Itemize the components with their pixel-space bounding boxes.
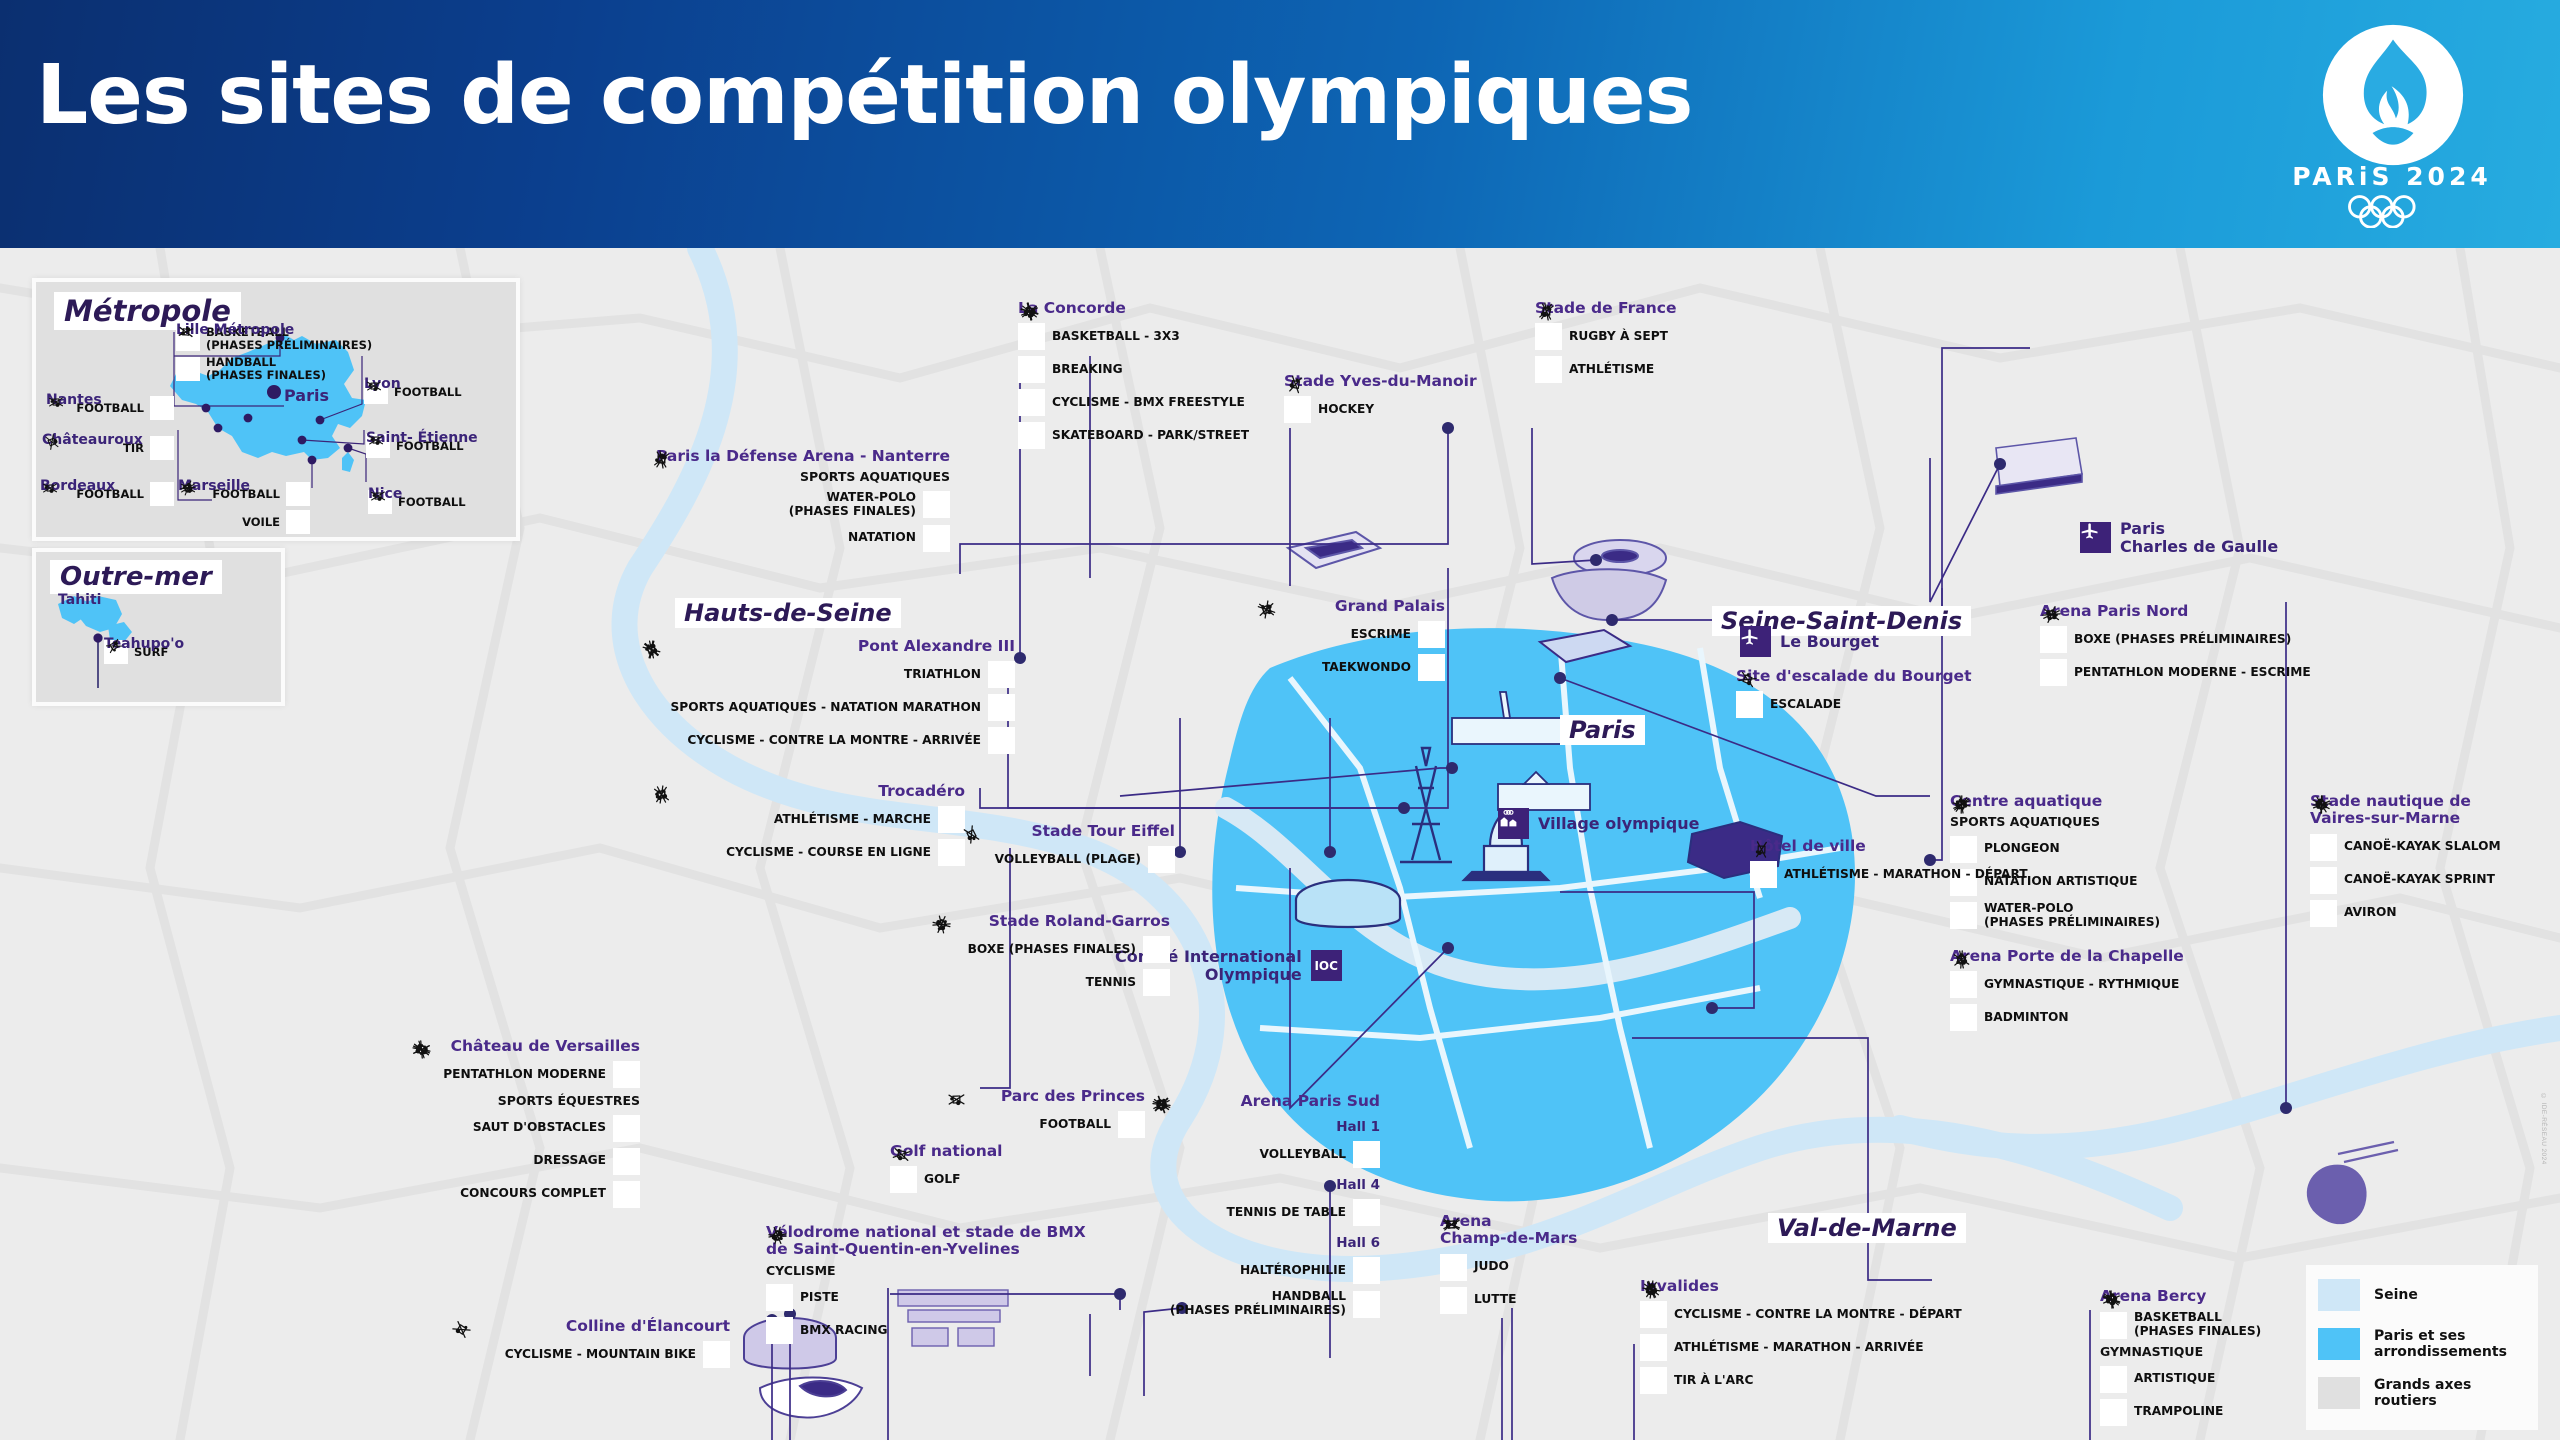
olympic-flame-marianne-icon: [2320, 22, 2466, 168]
sport-label: ESCALADE: [1770, 698, 1841, 712]
venue-invalides[interactable]: InvalidesCYCLISME - CONTRE LA MONTRE - D…: [1640, 1278, 2020, 1394]
bourget-venue-icon: [1552, 569, 1666, 620]
athletics-pictogram: [1535, 300, 1558, 323]
venue-name: Stade Tour Eiffel: [960, 823, 1175, 840]
sport-label: HOCKEY: [1318, 403, 1374, 417]
archery-pictogram: [1640, 1367, 1667, 1394]
region-label-val-de-marne: Val-de-Marne: [1768, 1213, 1966, 1243]
sport-row[interactable]: WATER-POLO (PHASES FINALES): [650, 491, 950, 519]
equestrian-dressage-pictogram: [613, 1148, 640, 1175]
fencing-pictogram: [1418, 621, 1445, 648]
sailing-pictogram: [178, 478, 198, 498]
credit-text: © IDE-RÉSEAU 2024: [2540, 1093, 2547, 1165]
sport-row[interactable]: PENTATHLON MODERNE: [410, 1061, 640, 1088]
rowing-pictogram: [2310, 793, 2333, 816]
venue-site-escalade-du-bourget[interactable]: Site d'escalade du BourgetESCALADE: [1736, 668, 2036, 718]
poi-label: Village olympique: [1538, 815, 1699, 833]
venue-name: Arena Champ-de-Mars: [1440, 1213, 1630, 1248]
map-canvas: Hauts-de-Seine Seine-Saint-Denis Paris V…: [0, 248, 2560, 1440]
venue-subhead: SPORTS ÉQUESTRES: [410, 1094, 640, 1108]
sport-row[interactable]: SKATEBOARD - PARK/STREET: [1018, 422, 1308, 449]
venue-velodrome-national-bmx[interactable]: Vélodrome national et stade de BMX de Sa…: [766, 1224, 1096, 1344]
trampoline-pictogram: [2100, 1399, 2127, 1426]
sailing-pictogram: [286, 510, 310, 534]
sport-row[interactable]: PISTE: [766, 1284, 1096, 1311]
sport-label: PENTATHLON MODERNE: [443, 1068, 606, 1082]
venue-name: Centre aquatique: [1950, 793, 2280, 810]
venue-name: Vélodrome national et stade de BMX de Sa…: [766, 1224, 1096, 1259]
region-label-paris: Paris: [1560, 715, 1645, 745]
sport-row[interactable]: ESCRIME: [1255, 621, 1445, 648]
inset-map-metropole[interactable]: Métropole: [32, 278, 520, 541]
inset-sport-row[interactable]: FOOTBALL: [46, 396, 174, 420]
sport-row[interactable]: CYCLISME - MOUNTAIN BIKE: [450, 1341, 730, 1368]
venue-colline-delancourt[interactable]: Colline d'ÉlancourtCYCLISME - MOUNTAIN B…: [450, 1318, 730, 1368]
sport-label: BMX RACING: [800, 1324, 888, 1338]
poi-label: Le Bourget: [1780, 633, 1879, 651]
poi-paris-charles-de-gaulle[interactable]: Paris Charles de Gaulle: [2080, 520, 2278, 555]
golf-pictogram: [890, 1143, 913, 1166]
badminton-pictogram: [1950, 948, 1973, 971]
sport-row[interactable]: FOOTBALL: [945, 1111, 1145, 1138]
legend-item-paris: Paris et ses arrondissements: [2318, 1328, 2526, 1360]
hockey-pictogram: [1284, 396, 1311, 423]
inset-sport-label: FOOTBALL: [398, 496, 466, 509]
handball-pictogram: [1150, 1093, 1173, 1116]
sport-label: HANDBALL (PHASES PRÉLIMINAIRES): [1170, 1290, 1346, 1318]
venue-name: Golf national: [890, 1143, 1070, 1160]
inset-city-paris: Paris: [284, 386, 329, 405]
poi-le-bourget[interactable]: Le Bourget: [1740, 626, 1879, 657]
football-pictogram: [150, 396, 174, 420]
sport-climbing-pictogram: [1736, 691, 1763, 718]
sport-row[interactable]: GOLF: [890, 1166, 1070, 1193]
sport-row[interactable]: ATHLÉTISME - MARATHON - ARRIVÉE: [1640, 1334, 2020, 1361]
sport-label: CYCLISME - BMX FREESTYLE: [1052, 396, 1245, 410]
sport-row[interactable]: VOLLEYBALL (PLAGE): [960, 846, 1175, 873]
wrestling-pictogram: [1440, 1287, 1467, 1314]
cycling-road-pictogram: [640, 638, 663, 661]
football-pictogram: [40, 478, 60, 498]
sport-row[interactable]: BOXE (PHASES FINALES): [930, 936, 1170, 963]
football-pictogram: [366, 430, 386, 450]
venue-chateau-de-versailles[interactable]: Château de VersaillesPENTATHLON MODERNES…: [410, 1038, 640, 1208]
swimming-pictogram: [650, 448, 673, 471]
sport-row[interactable]: AVIRON: [2310, 900, 2560, 927]
taekwondo-pictogram: [1418, 654, 1445, 681]
sport-label: NATATION: [848, 531, 916, 545]
inset-site-teahupoo[interactable]: Teahupo'oSURF: [104, 636, 264, 664]
sport-label: ARTISTIQUE: [2134, 1372, 2215, 1386]
sport-label: GOLF: [924, 1173, 960, 1187]
paris-2024-logo: PARiS 2024: [2292, 22, 2492, 227]
sport-row[interactable]: PENTATHLON MODERNE - ESCRIME: [2040, 659, 2370, 686]
venue-arena-paris-nord[interactable]: Arena Paris NordBOXE (PHASES PRÉLIMINAIR…: [2040, 603, 2370, 686]
venue-subhead: SPORTS AQUATIQUES: [1950, 815, 2280, 829]
sport-row[interactable]: SPORTS AQUATIQUES - NATATION MARATHON: [640, 694, 1015, 721]
yves-du-manoir-icon: [1288, 532, 1380, 568]
artistic-gymnastics-pictogram: [2100, 1366, 2127, 1393]
tennis-pictogram: [1143, 969, 1170, 996]
sport-label: DRESSAGE: [533, 1154, 606, 1168]
bmx-racing-pictogram: [766, 1317, 793, 1344]
sport-label: TENNIS DE TABLE: [1227, 1206, 1346, 1220]
venue-name: Invalides: [1640, 1278, 2020, 1295]
sport-row[interactable]: WATER-POLO (PHASES PRÉLIMINAIRES): [1950, 902, 2280, 930]
legend-swatch-seine: [2318, 1279, 2360, 1311]
venue-stade-tour-eiffel[interactable]: Stade Tour EiffelVOLLEYBALL (PLAGE): [960, 823, 1175, 873]
venue-name: Pont Alexandre III: [640, 638, 1015, 655]
page-header: Les sites de compétition olympiques PARi…: [0, 0, 2560, 248]
hockey-pictogram: [1284, 373, 1307, 396]
waterpolo-pictogram: [1950, 793, 1973, 816]
sport-row[interactable]: CYCLISME - BMX FREESTYLE: [1018, 389, 1308, 416]
venue-name: Parc des Princes: [945, 1088, 1145, 1105]
cycling-track-pictogram: [766, 1284, 793, 1311]
sport-label: CYCLISME - COURSE EN LIGNE: [726, 846, 931, 860]
sport-row[interactable]: TENNIS: [930, 969, 1170, 996]
airport-icon: [2080, 522, 2111, 553]
rowing-pictogram: [2310, 900, 2337, 927]
sport-label: BOXE (PHASES FINALES): [968, 943, 1136, 957]
sport-label: AVIRON: [2344, 906, 2397, 920]
sport-label: CYCLISME - CONTRE LA MONTRE - ARRIVÉE: [687, 734, 981, 748]
sport-row[interactable]: CANOË-KAYAK SLALOM: [2310, 834, 2560, 861]
sport-row[interactable]: BMX RACING: [766, 1317, 1096, 1344]
sport-label: CANOË-KAYAK SPRINT: [2344, 873, 2495, 887]
venue-name: Château de Versailles: [410, 1038, 640, 1055]
cycling-road-pictogram: [988, 727, 1015, 754]
sport-row[interactable]: ATHLÉTISME - MARATHON - DÉPART: [1750, 861, 2050, 888]
venue-golf-national[interactable]: Golf nationalGOLF: [890, 1143, 1070, 1193]
sport-label: PENTATHLON MODERNE - ESCRIME: [2074, 666, 2311, 680]
sport-label: WATER-POLO (PHASES FINALES): [789, 491, 916, 519]
legend-item-seine: Seine: [2318, 1279, 2526, 1311]
venue-parc-des-princes[interactable]: Parc des PrincesFOOTBALL: [945, 1088, 1145, 1138]
legend-swatch-roads: [2318, 1377, 2360, 1409]
football-pictogram: [150, 482, 174, 506]
sport-row[interactable]: ATHLÉTISME: [1535, 356, 1785, 383]
inset-city-marseille[interactable]: MarseilleFOOTBALLVOILE: [178, 478, 310, 534]
venue-stade-de-france[interactable]: Stade de FranceRUGBY À SEPTATHLÉTISME: [1535, 300, 1785, 383]
sport-row[interactable]: DRESSAGE: [410, 1148, 640, 1175]
trampoline-pictogram: [2100, 1288, 2123, 1311]
sport-row[interactable]: SAUT D'OBSTACLES: [410, 1115, 640, 1142]
roland-garros-icon: [1296, 880, 1400, 927]
sport-label: ATHLÉTISME - MARCHE: [774, 813, 931, 827]
sport-row[interactable]: ESCALADE: [1736, 691, 2036, 718]
sport-label: PISTE: [800, 1291, 839, 1305]
olympic-village-icon: [1498, 808, 1529, 839]
vaires-nautical-icon: [2308, 1142, 2398, 1223]
handball-pictogram: [176, 357, 200, 381]
inset-city-nantes[interactable]: NantesFOOTBALL: [46, 392, 174, 420]
legend-swatch-paris: [2318, 1328, 2360, 1360]
sport-label: SPORTS AQUATIQUES - NATATION MARATHON: [671, 701, 981, 715]
venue-paris-la-defense-arena[interactable]: Paris la Défense Arena - NanterreSPORTS …: [650, 448, 950, 552]
bmx-racing-pictogram: [766, 1224, 789, 1247]
sport-label: ESCRIME: [1351, 628, 1411, 642]
sport-row[interactable]: CONCOURS COMPLET: [410, 1181, 640, 1208]
sport-label: SKATEBOARD - PARK/STREET: [1052, 429, 1249, 443]
taekwondo-pictogram: [1255, 598, 1278, 621]
archery-pictogram: [1640, 1278, 1663, 1301]
sport-row[interactable]: CANOË-KAYAK SPRINT: [2310, 867, 2560, 894]
athletics-pictogram: [1535, 356, 1562, 383]
swimming-pictogram: [923, 525, 950, 552]
venue-name: Grand Palais: [1255, 598, 1445, 615]
hall-label: Hall 4: [1150, 1177, 1380, 1193]
venue-name: Stade Roland-Garros: [930, 913, 1170, 930]
judo-pictogram: [1440, 1254, 1467, 1281]
sport-label: VOLLEYBALL: [1259, 1148, 1346, 1162]
boxing-pictogram: [1143, 936, 1170, 963]
football-pictogram: [945, 1088, 968, 1111]
shooting-pictogram: [42, 432, 62, 452]
inset-city-nice[interactable]: NiceFOOTBALL: [368, 486, 506, 514]
waterpolo-pictogram: [1950, 902, 1977, 929]
venue-stade-yves-du-manoir[interactable]: Stade Yves-du-ManoirHOCKEY: [1284, 373, 1514, 423]
sport-label: LUTTE: [1474, 1293, 1516, 1307]
sport-label: GYMNASTIQUE - RYTHMIQUE: [1984, 978, 2179, 992]
tahiti-map-shape: [36, 552, 273, 694]
sport-label: SAUT D'OBSTACLES: [473, 1121, 606, 1135]
sport-label: WATER-POLO (PHASES PRÉLIMINAIRES): [1984, 902, 2160, 930]
golf-national-icon: [760, 1378, 862, 1418]
legend-label: Seine: [2374, 1287, 2418, 1303]
page-title: Les sites de compétition olympiques: [36, 48, 1692, 143]
legend-label: Paris et ses arrondissements: [2374, 1328, 2507, 1360]
beach-volleyball-pictogram: [960, 823, 983, 846]
mountain-bike-pictogram: [450, 1318, 473, 1341]
football-pictogram: [368, 486, 388, 506]
rhythmic-gymnastics-pictogram: [1950, 971, 1977, 998]
equestrian-eventing-pictogram: [410, 1038, 433, 1061]
sport-row[interactable]: BADMINTON: [1950, 1004, 2270, 1031]
basketball-pictogram: [2100, 1312, 2127, 1339]
marathon-swimming-pictogram: [988, 694, 1015, 721]
football-pictogram: [46, 392, 66, 412]
basketball-3x3-pictogram: [1018, 323, 1045, 350]
rugby-sevens-pictogram: [1535, 323, 1562, 350]
venue-name: Stade Yves-du-Manoir: [1284, 373, 1514, 390]
sport-label: ATHLÉTISME - MARATHON - ARRIVÉE: [1674, 1341, 1924, 1355]
poi-village-olympique[interactable]: Village olympique: [1498, 808, 1699, 839]
skateboarding-pictogram: [1018, 300, 1041, 323]
inset-city-lyon[interactable]: LyonFOOTBALL: [364, 376, 504, 404]
athletics-pictogram: [1640, 1334, 1667, 1361]
venue-name: Arena Paris Nord: [2040, 603, 2370, 620]
venue-name: Site d'escalade du Bourget: [1736, 668, 2036, 685]
venue-name: Colline d'Élancourt: [450, 1318, 730, 1335]
venue-grand-palais[interactable]: Grand PalaisESCRIMETAEKWONDO: [1255, 598, 1445, 681]
venue-hotel-de-ville[interactable]: Hôtel de villeATHLÉTISME - MARATHON - DÉ…: [1750, 838, 2050, 888]
bmx-freestyle-pictogram: [1018, 389, 1045, 416]
venue-arena-champ-de-mars[interactable]: Arena Champ-de-MarsJUDOLUTTE: [1440, 1213, 1630, 1314]
equestrian-jumping-pictogram: [613, 1115, 640, 1142]
sport-row[interactable]: BREAKING: [1018, 356, 1308, 383]
venue-name: Trocadéro: [650, 783, 965, 800]
sport-row[interactable]: TIR À L'ARC: [1640, 1367, 2020, 1394]
inset-city-bordeaux[interactable]: BordeauxFOOTBALL: [40, 478, 174, 506]
sport-label: TAEKWONDO: [1322, 661, 1411, 675]
venue-la-concorde[interactable]: La ConcordeBASKETBALL - 3X3BREAKINGCYCLI…: [1018, 300, 1308, 449]
venue-subhead: CYCLISME: [766, 1264, 1096, 1278]
legend-label: Grands axes routiers: [2374, 1377, 2526, 1409]
cycling-road-pictogram: [1640, 1301, 1667, 1328]
sport-label: ATHLÉTISME - MARATHON - DÉPART: [1784, 868, 2028, 882]
sport-row[interactable]: GYMNASTIQUE - RYTHMIQUE: [1950, 971, 2270, 998]
shooting-pictogram: [150, 436, 174, 460]
football-pictogram: [364, 376, 384, 396]
sport-row[interactable]: HALTÉROPHILIE: [1150, 1257, 1380, 1284]
sport-label: BADMINTON: [1984, 1011, 2069, 1025]
cycling-road-pictogram: [650, 783, 673, 806]
venue-stade-nautique-vaires-sur-marne[interactable]: Stade nautique de Vaires-sur-MarneCANOË-…: [2310, 793, 2560, 927]
map-legend: Seine Paris et ses arrondissements Grand…: [2306, 1265, 2538, 1430]
venue-name: La Concorde: [1018, 300, 1308, 317]
sport-label: BASKETBALL (PHASES FINALES): [2134, 1311, 2261, 1339]
athletics-pictogram: [1750, 861, 1777, 888]
inset-sport-label: VOILE: [242, 516, 280, 529]
inset-city-chateauroux[interactable]: ChâteaurouxTIR: [42, 432, 174, 460]
venue-name: Stade nautique de Vaires-sur-Marne: [2310, 793, 2560, 828]
sport-row[interactable]: HOCKEY: [1284, 396, 1514, 423]
breaking-pictogram: [1018, 356, 1045, 383]
sport-label: HALTÉROPHILIE: [1240, 1264, 1346, 1278]
venue-arena-porte-de-la-chapelle[interactable]: Arena Porte de la ChapelleGYMNASTIQUE - …: [1950, 948, 2270, 1031]
logo-wordmark: PARiS 2024: [2292, 162, 2492, 191]
modern-pentathlon-pictogram: [2040, 603, 2063, 626]
badminton-pictogram: [1950, 1004, 1977, 1031]
sport-label: CONCOURS COMPLET: [460, 1187, 606, 1201]
sport-row[interactable]: BASKETBALL - 3X3: [1018, 323, 1308, 350]
sport-row[interactable]: TAEKWONDO: [1255, 654, 1445, 681]
sport-row[interactable]: ATHLÉTISME - MARCHE: [650, 806, 965, 833]
sport-label: BASKETBALL - 3X3: [1052, 330, 1180, 344]
sport-climbing-pictogram: [1736, 668, 1759, 691]
waterpolo-pictogram: [923, 491, 950, 518]
venue-name: Stade de France: [1535, 300, 1785, 317]
golf-pictogram: [890, 1166, 917, 1193]
sport-label: TRAMPOLINE: [2134, 1405, 2223, 1419]
ioc-badge: IOC: [1311, 950, 1342, 981]
sport-row[interactable]: TENNIS DE TABLE: [1150, 1199, 1380, 1226]
athletics-pictogram: [1750, 838, 1773, 861]
hall-label: Hall 6: [1150, 1235, 1380, 1251]
inset-city-saint-etienne[interactable]: Saint- ÉtienneFOOTBALL: [366, 430, 508, 458]
sport-label: CYCLISME - MOUNTAIN BIKE: [505, 1348, 696, 1362]
sport-label: JUDO: [1474, 1260, 1509, 1274]
table-tennis-pictogram: [1353, 1199, 1380, 1226]
mountain-bike-pictogram: [703, 1341, 730, 1368]
modern-pentathlon-pictogram: [613, 1061, 640, 1088]
sport-label: BREAKING: [1052, 363, 1123, 377]
tennis-pictogram: [930, 913, 953, 936]
surfing-pictogram: [104, 636, 124, 656]
volleyball-pictogram: [1353, 1141, 1380, 1168]
inset-city-lille-metropole[interactable]: Lille MétropoleBASKETBALL (PHASES PRÉLIM…: [176, 322, 416, 382]
region-label-hauts-de-seine: Hauts-de-Seine: [675, 598, 901, 628]
wrestling-pictogram: [1440, 1213, 1463, 1236]
inset-sport-label: HANDBALL (PHASES FINALES): [206, 356, 326, 382]
sport-row[interactable]: LUTTE: [1440, 1287, 1630, 1314]
sport-row[interactable]: CYCLISME - COURSE EN LIGNE: [650, 839, 965, 866]
venue-name: Arena Porte de la Chapelle: [1950, 948, 2270, 965]
venue-arena-paris-sud[interactable]: Arena Paris SudHall 1VOLLEYBALLHall 4TEN…: [1150, 1093, 1380, 1318]
olympic-rings-icon: [2336, 194, 2448, 228]
sport-label: FOOTBALL: [1039, 1118, 1111, 1132]
sport-row[interactable]: TRIATHLON: [640, 661, 1015, 688]
sport-label: BOXE (PHASES PRÉLIMINAIRES): [2074, 633, 2291, 647]
venue-name: Arena Paris Sud: [1150, 1093, 1380, 1110]
venue-name: Paris la Défense Arena - Nanterre: [650, 448, 950, 465]
sport-row[interactable]: CYCLISME - CONTRE LA MONTRE - DÉPART: [1640, 1301, 2020, 1328]
sport-row[interactable]: RUGBY À SEPT: [1535, 323, 1785, 350]
sport-label: TRIATHLON: [904, 668, 981, 682]
poi-label: Paris Charles de Gaulle: [2120, 520, 2278, 555]
sport-label: TIR À L'ARC: [1674, 1374, 1753, 1388]
venue-pont-alexandre-iii[interactable]: Pont Alexandre IIITRIATHLONSPORTS AQUATI…: [640, 638, 1015, 754]
arena-paris-nord-icon: [1996, 438, 2082, 494]
hall-label: Hall 1: [1150, 1119, 1380, 1135]
venue-trocadero[interactable]: TrocadéroATHLÉTISME - MARCHECYCLISME - C…: [650, 783, 965, 866]
sport-label: ATHLÉTISME: [1569, 363, 1654, 377]
sport-label: VOLLEYBALL (PLAGE): [995, 853, 1141, 867]
venue-subhead: SPORTS AQUATIQUES: [650, 470, 950, 484]
canoe-sprint-pictogram: [2310, 867, 2337, 894]
sport-row[interactable]: VOLLEYBALL: [1150, 1141, 1380, 1168]
football-pictogram: [286, 482, 310, 506]
skateboarding-pictogram: [1018, 422, 1045, 449]
triathlon-pictogram: [988, 661, 1015, 688]
sport-label: RUGBY À SEPT: [1569, 330, 1668, 344]
handball-pictogram: [176, 322, 196, 342]
boxing-pictogram: [2040, 626, 2067, 653]
modern-pentathlon-pictogram: [2040, 659, 2067, 686]
sport-label: CYCLISME - CONTRE LA MONTRE - DÉPART: [1674, 1308, 1962, 1322]
venue-name: Hôtel de ville: [1750, 838, 2050, 855]
equestrian-eventing-pictogram: [613, 1181, 640, 1208]
sport-row[interactable]: CYCLISME - CONTRE LA MONTRE - ARRIVÉE: [640, 727, 1015, 754]
airport-icon: [1740, 626, 1771, 657]
football-pictogram: [1118, 1111, 1145, 1138]
weightlifting-pictogram: [1353, 1257, 1380, 1284]
inset-map-outremer[interactable]: Outre-mer Tahiti Teahupo'oSURF: [32, 548, 285, 706]
sport-row[interactable]: JUDO: [1440, 1254, 1630, 1281]
sport-row[interactable]: BOXE (PHASES PRÉLIMINAIRES): [2040, 626, 2370, 653]
sport-label: CANOË-KAYAK SLALOM: [2344, 840, 2501, 854]
venue-stade-roland-garros[interactable]: Stade Roland-GarrosBOXE (PHASES FINALES)…: [930, 913, 1170, 996]
inset-sport-label: FOOTBALL: [394, 386, 462, 399]
beach-volleyball-pictogram: [1148, 846, 1175, 873]
sport-row[interactable]: HANDBALL (PHASES PRÉLIMINAIRES): [1150, 1290, 1380, 1318]
inset-island-tahiti: Tahiti: [58, 592, 101, 608]
handball-pictogram: [1353, 1291, 1380, 1318]
inset-sport-row[interactable]: VOILE: [178, 510, 310, 534]
legend-item-roads: Grands axes routiers: [2318, 1377, 2526, 1409]
sport-row[interactable]: NATATION: [650, 525, 950, 552]
canoe-slalom-pictogram: [2310, 834, 2337, 861]
sport-label: TENNIS: [1086, 976, 1136, 990]
